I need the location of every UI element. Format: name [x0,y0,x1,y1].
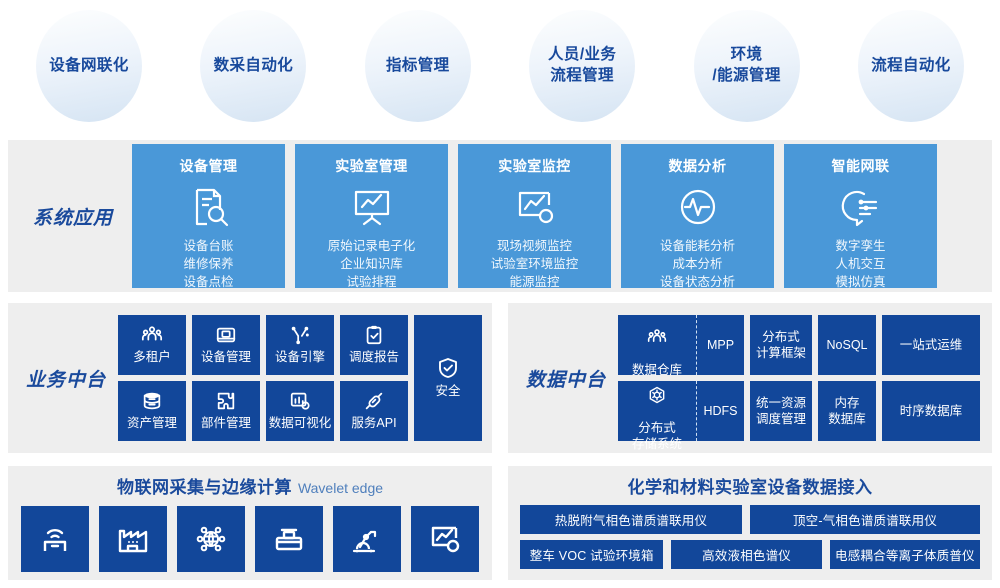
distributed-storage-hdfs-tile[interactable]: 分布式 存储系统 HDFS [618,381,744,441]
card-detail-lines: 原始记录电子化 企业知识库 试验排程 [328,237,416,291]
business-platform-panel: 业务中台 多租户 [8,303,492,453]
machine-valve-icon[interactable] [255,506,323,572]
card-detail-lines: 现场视频监控 试验室环境监控 能源监控 [491,237,579,291]
capability-label: 设备网联化 [49,56,129,77]
data-tile-unified-resource-scheduling[interactable]: 统一资源 调度管理 [750,381,812,441]
factory-icon[interactable] [99,506,167,572]
capability-label: 人员/业务 流程管理 [548,45,616,87]
tile-label: 设备引擎 [275,349,325,365]
tile-label: 分布式 存储系统 [632,421,682,452]
business-tile-data-visualization[interactable]: 数据可视化 [266,381,334,441]
system-application-card[interactable]: 实验室管理 原始记录电子化 企业知识库 试验排程 [295,144,448,288]
wifi-gateway-icon[interactable] [21,506,89,572]
data-tile-one-stop-ops[interactable]: 一站式运维 [882,315,980,375]
document-search-icon [187,185,231,229]
presentation-chart-icon [350,185,394,229]
data-tile-timeseries-db[interactable]: 时序数据库 [882,381,980,441]
lab-chip-hplc[interactable]: 高效液相色谱仪 [671,540,821,569]
device-box-icon [215,324,237,346]
puzzle-icon [215,390,237,412]
capability-bubble[interactable]: 人员/业务 流程管理 [529,10,635,122]
iot-edge-panel: 物联网采集与边缘计算Wavelet edge [8,466,492,580]
business-tile-schedule-report[interactable]: 调度报告 [340,315,408,375]
business-tile-service-api[interactable]: 服务API [340,381,408,441]
chart-view-icon [289,390,311,412]
business-tile-multi-tenant[interactable]: 多租户 [118,315,186,375]
data-tile-in-memory-db[interactable]: 内存 数据库 [818,381,876,441]
lab-chip-icp-ms[interactable]: 电感耦合等离子体质普仪 [830,540,980,569]
card-title: 设备管理 [180,156,238,176]
lab-data-access-title: 化学和材料实验室设备数据接入 [508,473,992,498]
tile-label: 安全 [435,383,460,399]
business-tile-column: 多租户 资产管理 [118,315,186,441]
lab-chip-rows: 热脱附气相色谱质谱联用仪 顶空-气相色谱质谱联用仪 整车 VOC 试验环境箱 高… [508,505,992,569]
system-application-row-label: 系统应用 [18,203,128,230]
data-platform-row-2: 分布式 存储系统 HDFS 统一资源 调度管理 内存 数据库 时序数据库 [618,381,980,441]
data-platform-row-1: 数据仓库 MPP 分布式 计算框架 NoSQL 一站式运维 [618,315,980,375]
data-platform-panel: 数据中台 数据仓库 MPP [508,303,992,453]
lab-chip-voc-chamber[interactable]: 整车 VOC 试验环境箱 [520,540,663,569]
bottom-band: 物联网采集与边缘计算Wavelet edge [8,466,992,580]
lab-chip-row-2: 整车 VOC 试验环境箱 高效液相色谱仪 电感耦合等离子体质普仪 [520,540,980,569]
data-warehouse-mpp-tile[interactable]: 数据仓库 MPP [618,315,744,375]
card-title: 实验室管理 [335,156,408,176]
capability-label: 数采自动化 [214,56,294,77]
monitor-chart-icon [513,185,557,229]
lab-data-access-panel: 化学和材料实验室设备数据接入 热脱附气相色谱质谱联用仪 顶空-气相色谱质谱联用仪… [508,466,992,580]
capability-bubble[interactable]: 流程自动化 [858,10,964,122]
system-application-card[interactable]: 实验室监控 现场视频监控 试验室环境监控 能源监控 [458,144,611,288]
iot-edge-title-row: 物联网采集与边缘计算Wavelet edge [8,473,492,498]
card-detail-lines: 设备台账 维修保养 设备点检 [183,237,233,291]
system-application-panel: 系统应用 设备管理 设备台账 维修保养 设备点检 实验室管理 [8,140,992,292]
system-application-card[interactable]: 数据分析 设备能耗分析 成本分析 设备状态分析 [621,144,774,288]
shield-check-icon [436,356,460,380]
business-tile-device-engine[interactable]: 设备引擎 [266,315,334,375]
capability-label: 环境 /能源管理 [712,45,780,87]
tile-label: 设备管理 [201,349,251,365]
iot-icon-row [8,506,492,572]
lab-chip-row-1: 热脱附气相色谱质谱联用仪 顶空-气相色谱质谱联用仪 [520,505,980,534]
data-platform-row-label: 数据中台 [514,365,618,392]
business-tile-asset-management[interactable]: 资产管理 [118,381,186,441]
business-platform-row-label: 业务中台 [14,365,118,392]
business-tile-security[interactable]: 安全 [414,315,482,441]
card-detail-lines: 设备能耗分析 成本分析 设备状态分析 [660,237,735,291]
architecture-diagram: 设备网联化 数采自动化 指标管理 人员/业务 流程管理 环境 /能源管理 流程自… [0,0,1000,588]
system-application-card-list: 设备管理 设备台账 维修保养 设备点检 实验室管理 [132,144,937,288]
tile-label: 资产管理 [127,415,177,431]
card-title: 智能网联 [832,156,890,176]
capability-bubble[interactable]: 指标管理 [365,10,471,122]
capability-bubble[interactable]: 环境 /能源管理 [694,10,800,122]
data-platform-grid: 数据仓库 MPP 分布式 计算框架 NoSQL 一站式运维 [618,315,980,441]
ai-head-icon [839,185,883,229]
business-tile-column: 设备管理 部件管理 [192,315,260,441]
data-warehouse-cell[interactable]: 数据仓库 [618,315,697,375]
hdfs-cell[interactable]: HDFS [697,381,744,441]
data-tile-nosql[interactable]: NoSQL [818,315,876,375]
business-tile-column: 设备引擎 数据可视化 [266,315,334,441]
middle-platform-band: 业务中台 多租户 [8,303,992,453]
distributed-storage-cell[interactable]: 分布式 存储系统 [618,381,697,441]
card-title: 数据分析 [669,156,727,176]
database-coin-icon [141,390,163,412]
tile-label: 调度报告 [349,349,399,365]
lab-chip-thermal-desorption-gcms[interactable]: 热脱附气相色谱质谱联用仪 [520,505,742,534]
plug-api-icon [363,390,385,412]
monitoring-screen-icon[interactable] [411,506,479,572]
iot-edge-subtitle: Wavelet edge [298,480,383,496]
iot-edge-title: 物联网采集与边缘计算 [117,478,292,497]
tile-label: 数据可视化 [269,415,332,431]
card-detail-lines: 数字孪生 人机交互 模拟仿真 [835,237,885,291]
capability-label: 指标管理 [386,56,450,77]
tile-label: 服务API [351,415,396,431]
system-application-card[interactable]: 智能网联 数字孪生 人机交互 模拟仿真 [784,144,937,288]
robot-arm-icon[interactable] [333,506,401,572]
capability-bubble-row: 设备网联化 数采自动化 指标管理 人员/业务 流程管理 环境 /能源管理 流程自… [0,0,1000,132]
business-tile-column: 调度报告 服务API [340,315,408,441]
mpp-cell[interactable]: MPP [697,315,744,375]
engine-node-icon [289,324,311,346]
multi-tenant-icon [141,324,163,346]
business-tile-component-management[interactable]: 部件管理 [192,381,260,441]
clipboard-check-icon [363,324,385,346]
distributed-storage-icon [647,370,667,421]
tile-label: 部件管理 [201,415,251,431]
business-tile-device-management[interactable]: 设备管理 [192,315,260,375]
network-globe-icon[interactable] [177,506,245,572]
capability-bubble[interactable]: 数采自动化 [200,10,306,122]
tile-label: 多租户 [133,349,171,365]
pulse-circle-icon [676,185,720,229]
lab-chip-headspace-gcms[interactable]: 顶空-气相色谱质谱联用仪 [750,505,980,534]
system-application-card[interactable]: 设备管理 设备台账 维修保养 设备点检 [132,144,285,288]
business-platform-grid: 多租户 资产管理 [118,315,482,441]
card-title: 实验室监控 [498,156,571,176]
capability-label: 流程自动化 [871,56,951,77]
data-tile-distributed-compute[interactable]: 分布式 计算框架 [750,315,812,375]
capability-bubble[interactable]: 设备网联化 [36,10,142,122]
data-warehouse-icon [647,312,667,363]
